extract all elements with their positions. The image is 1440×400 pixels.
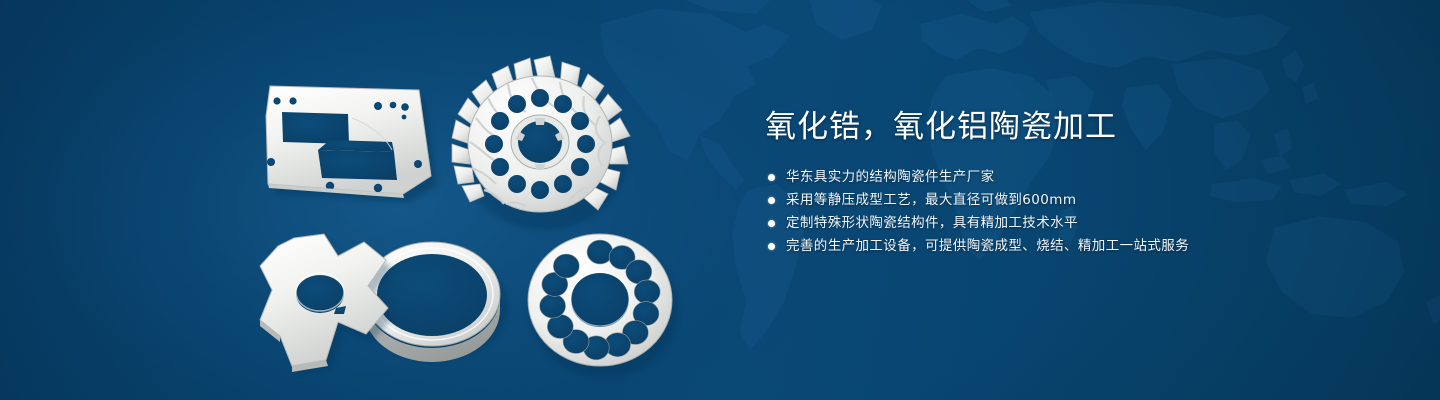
list-item-label: 华东具实力的结构陶瓷件生产厂家 (786, 170, 995, 185)
bullet-dot-icon (768, 220, 775, 227)
ceramic-impeller-shape (452, 56, 630, 230)
ceramic-plate-shape (266, 86, 437, 203)
banner-copy: 氧化锆，氧化铝陶瓷加工 华东具实力的结构陶瓷件生产厂家 采用等静压成型工艺，最大… (763, 108, 1383, 262)
product-image-group (0, 0, 720, 400)
list-item: 采用等静压成型工艺，最大直径可做到600mm (763, 193, 1383, 208)
page-title: 氧化锆，氧化铝陶瓷加工 (765, 108, 1383, 148)
ceramic-perforated-disc-shape (528, 234, 678, 378)
bullet-dot-icon (768, 197, 775, 204)
ceramic-cross-shape (260, 234, 394, 374)
list-item: 华东具实力的结构陶瓷件生产厂家 (763, 170, 1383, 185)
list-item-label: 采用等静压成型工艺，最大直径可做到600mm (786, 193, 1076, 208)
bullet-dot-icon (768, 174, 775, 181)
list-item-label: 完善的生产加工设备，可提供陶瓷成型、烧结、精加工一站式服务 (786, 239, 1189, 254)
list-item: 定制特殊形状陶瓷结构件，具有精加工技术水平 (763, 216, 1383, 231)
bullet-dot-icon (768, 243, 775, 250)
feature-list: 华东具实力的结构陶瓷件生产厂家 采用等静压成型工艺，最大直径可做到600mm 定… (763, 170, 1383, 254)
hero-banner: 氧化锆，氧化铝陶瓷加工 华东具实力的结构陶瓷件生产厂家 采用等静压成型工艺，最大… (0, 0, 1440, 400)
list-item-label: 定制特殊形状陶瓷结构件，具有精加工技术水平 (786, 216, 1078, 231)
list-item: 完善的生产加工设备，可提供陶瓷成型、烧结、精加工一站式服务 (763, 239, 1383, 254)
